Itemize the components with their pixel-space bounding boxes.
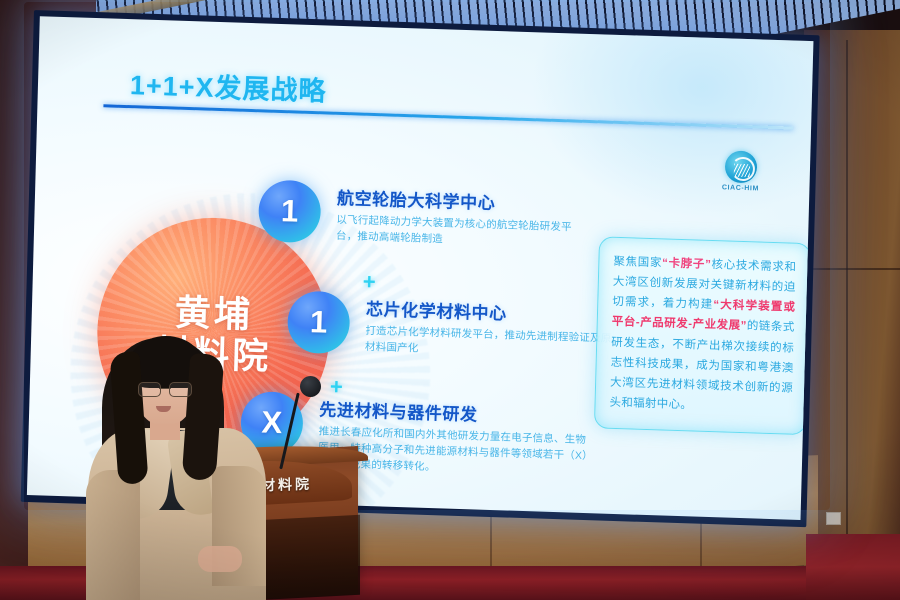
- strategy-item-2: 1 芯片化学材料中心 打造芯片化学材料研发平台，推动先进制程验证及原材料国产化: [287, 290, 617, 363]
- item-text-2: 芯片化学材料中心 打造芯片化学材料研发平台，推动先进制程验证及原材料国产化: [365, 293, 617, 364]
- slide-title: 1+1+X发展战略: [130, 63, 328, 108]
- wall-panel-right: [804, 30, 900, 570]
- callout-highlight-1: “卡脖子”: [662, 257, 711, 271]
- brand-logo: CIAC-HIM: [713, 150, 768, 193]
- speaker-person: [86, 330, 276, 600]
- microphone-head-icon: [300, 376, 321, 397]
- wall-seam-vertical: [846, 40, 848, 570]
- item-badge-2: 1: [287, 290, 351, 354]
- item-heading-2: 芯片化学材料中心: [366, 295, 617, 328]
- wall-seam-horizontal: [806, 268, 900, 270]
- item-heading-1: 航空轮胎大科学中心: [337, 184, 588, 217]
- item-text-3: 先进材料与器件研发 推进长春应化所和国内外其他研发力量在电子信息、生物医用、特种…: [318, 393, 592, 480]
- photo-scene: 1+1+X发展战略 CIAC-HIM 黄埔 材料院 + + 1: [0, 0, 900, 600]
- speaker-glasses-icon: [138, 382, 192, 395]
- wall-outlet: [826, 512, 841, 525]
- item-heading-3: 先进材料与器件研发: [319, 395, 592, 429]
- carpet-floor-right: [806, 534, 900, 600]
- strategy-callout-box: 聚焦国家“卡脖子”核心技术需求和大湾区创新发展对关键新材料的迫切需求，着力构建“…: [594, 236, 811, 435]
- speaker-arm-left: [86, 470, 140, 600]
- speaker-hands: [198, 546, 242, 572]
- strategy-item-1: 1 航空轮胎大科学中心 以飞行起降动力学大装置为核心的航空轮胎研发平台，推动高端…: [258, 179, 588, 252]
- plus-separator-1: +: [362, 271, 375, 293]
- item-badge-1: 1: [258, 179, 322, 243]
- callout-seg-1: 聚焦国家: [613, 256, 662, 270]
- callout-seg-3: 的链条式研发生态，不断产出梯次接续的标志性科技成果，成为国家和粤港澳大湾区先进材…: [609, 321, 794, 412]
- item-text-1: 航空轮胎大科学中心 以飞行起降动力学大装置为核心的航空轮胎研发平台，推动高端轮胎…: [336, 182, 588, 253]
- ciac-him-emblem-icon: [725, 150, 758, 183]
